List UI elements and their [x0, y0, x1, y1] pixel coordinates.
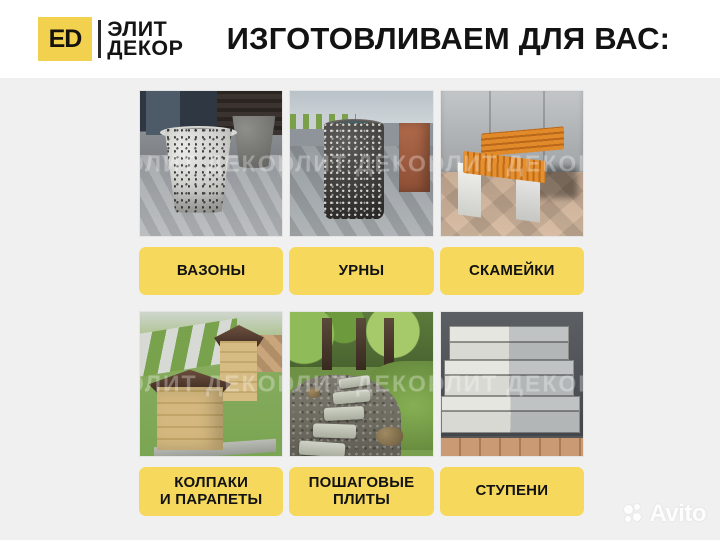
page-title: ИЗГОТОВЛИВАЕМ ДЛЯ ВАС:	[227, 21, 671, 57]
product-card-kolpaki[interactable]: ЭЛИТ ДЕКОР КОЛПАКИ И ПАРАПЕТЫ	[139, 311, 283, 516]
product-label-urny[interactable]: УРНЫ	[289, 247, 433, 295]
product-photo-urny[interactable]: ЭЛИТ ДЕКОР	[289, 90, 433, 237]
product-label-vazony[interactable]: ВАЗОНЫ	[139, 247, 283, 295]
product-photo-kolpaki[interactable]: ЭЛИТ ДЕКОР	[139, 311, 283, 457]
product-label-text: УРНЫ	[339, 263, 385, 279]
product-card-stupeni[interactable]: ЭЛИТ ДЕКОР СТУПЕНИ	[440, 311, 584, 516]
photo-scene-planter	[140, 91, 282, 236]
company-logo[interactable]: ED ЭЛИТ ДЕКОР	[38, 17, 183, 61]
product-photo-stupeni[interactable]: ЭЛИТ ДЕКОР	[440, 311, 584, 457]
logo-wordmark: ЭЛИТ ДЕКОР	[108, 20, 183, 59]
product-photo-poshagovye[interactable]: ЭЛИТ ДЕКОР	[289, 311, 433, 457]
logo-divider	[98, 20, 101, 58]
product-label-text: СТУПЕНИ	[475, 483, 548, 499]
product-grid: ЭЛИТ ДЕКОР ВАЗОНЫ ЭЛИТ ДЕКОР УРНЫ	[139, 90, 584, 516]
product-photo-vazony[interactable]: ЭЛИТ ДЕКОР	[139, 90, 283, 237]
photo-scene-bench	[441, 91, 583, 236]
header-bar: ED ЭЛИТ ДЕКОР ИЗГОТОВЛИВАЕМ ДЛЯ ВАС:	[0, 0, 720, 78]
product-label-poshagovye[interactable]: ПОШАГОВЫЕ ПЛИТЫ	[289, 467, 433, 516]
product-label-kolpaki[interactable]: КОЛПАКИ И ПАРАПЕТЫ	[139, 467, 283, 516]
product-label-text: СКАМЕЙКИ	[469, 263, 555, 279]
product-card-vazony[interactable]: ЭЛИТ ДЕКОР ВАЗОНЫ	[139, 90, 283, 295]
product-label-text: ПОШАГОВЫЕ ПЛИТЫ	[309, 475, 415, 507]
avito-watermark: Avito	[624, 502, 706, 526]
photo-scene-urn	[290, 91, 432, 236]
logo-badge-text: ED	[49, 25, 82, 54]
product-label-text: КОЛПАКИ И ПАРАПЕТЫ	[160, 475, 263, 507]
logo-name-line-2: ДЕКОР	[107, 39, 183, 58]
product-card-skameyki[interactable]: ЭЛИТ ДЕКОР СКАМЕЙКИ	[440, 90, 584, 295]
product-card-urny[interactable]: ЭЛИТ ДЕКОР УРНЫ	[289, 90, 433, 295]
photo-scene-pillar-caps	[140, 312, 282, 456]
photo-scene-steps	[441, 312, 583, 456]
product-photo-skameyki[interactable]: ЭЛИТ ДЕКОР	[440, 90, 584, 237]
advertisement-banner: ED ЭЛИТ ДЕКОР ИЗГОТОВЛИВАЕМ ДЛЯ ВАС: ЭЛИ…	[0, 0, 720, 540]
avito-logo-icon	[624, 504, 644, 524]
photo-scene-stepping-stones	[290, 312, 432, 456]
product-label-skameyki[interactable]: СКАМЕЙКИ	[440, 247, 584, 295]
product-label-stupeni[interactable]: СТУПЕНИ	[440, 467, 584, 516]
logo-badge: ED	[38, 17, 92, 61]
avito-wordmark: Avito	[649, 502, 706, 526]
product-card-poshagovye[interactable]: ЭЛИТ ДЕКОР ПОШАГОВЫЕ ПЛИТЫ	[289, 311, 433, 516]
product-label-text: ВАЗОНЫ	[177, 263, 246, 279]
grid-row-gap	[139, 295, 584, 311]
